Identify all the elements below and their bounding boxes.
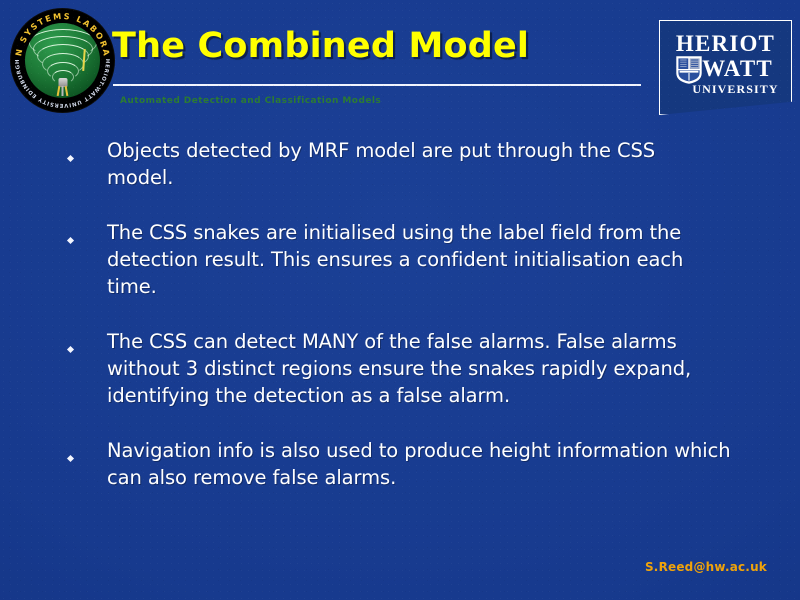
title-divider (113, 84, 641, 86)
page-title: The Combined Model (112, 26, 529, 66)
hw-shield-crest-icon (676, 56, 702, 84)
slide-subtitle: Automated Detection and Classification M… (120, 96, 381, 106)
ocean-systems-laboratory-logo: OCEAN SYSTEMS LABORATORY HERIOT-WATT UNI… (11, 9, 114, 112)
hw-line-university: UNIVERSITY (659, 82, 792, 97)
footer-contact-email: S.Reed@hw.ac.uk (645, 560, 767, 574)
osl-globe-icon (25, 23, 100, 98)
slide-header: OCEAN SYSTEMS LABORATORY HERIOT-WATT UNI… (0, 0, 800, 125)
heriot-watt-university-logo: HERIOT WATT UNIVERSITY (659, 20, 792, 115)
hw-logo-text: HERIOT WATT UNIVERSITY (659, 20, 792, 115)
list-item: The CSS can detect MANY of the false ala… (62, 328, 752, 409)
list-item: Objects detected by MRF model are put th… (62, 137, 752, 191)
list-item-text: The CSS snakes are initialised using the… (107, 219, 707, 300)
list-item-text: The CSS can detect MANY of the false ala… (107, 328, 725, 409)
bullet-marker-icon (62, 219, 107, 247)
list-item: Navigation info is also used to produce … (62, 437, 752, 491)
osl-sonar-tripod-icon (56, 78, 69, 96)
hw-line-watt: WATT (702, 56, 773, 81)
hw-line-heriot: HERIOT (659, 31, 792, 57)
bullet-list: Objects detected by MRF model are put th… (62, 137, 752, 519)
bullet-marker-icon (62, 437, 107, 465)
presentation-slide: OCEAN SYSTEMS LABORATORY HERIOT-WATT UNI… (0, 0, 800, 600)
bullet-marker-icon (62, 137, 107, 165)
list-item-text: Objects detected by MRF model are put th… (107, 137, 687, 191)
list-item: The CSS snakes are initialised using the… (62, 219, 752, 300)
list-item-text: Navigation info is also used to produce … (107, 437, 747, 491)
bullet-marker-icon (62, 328, 107, 356)
